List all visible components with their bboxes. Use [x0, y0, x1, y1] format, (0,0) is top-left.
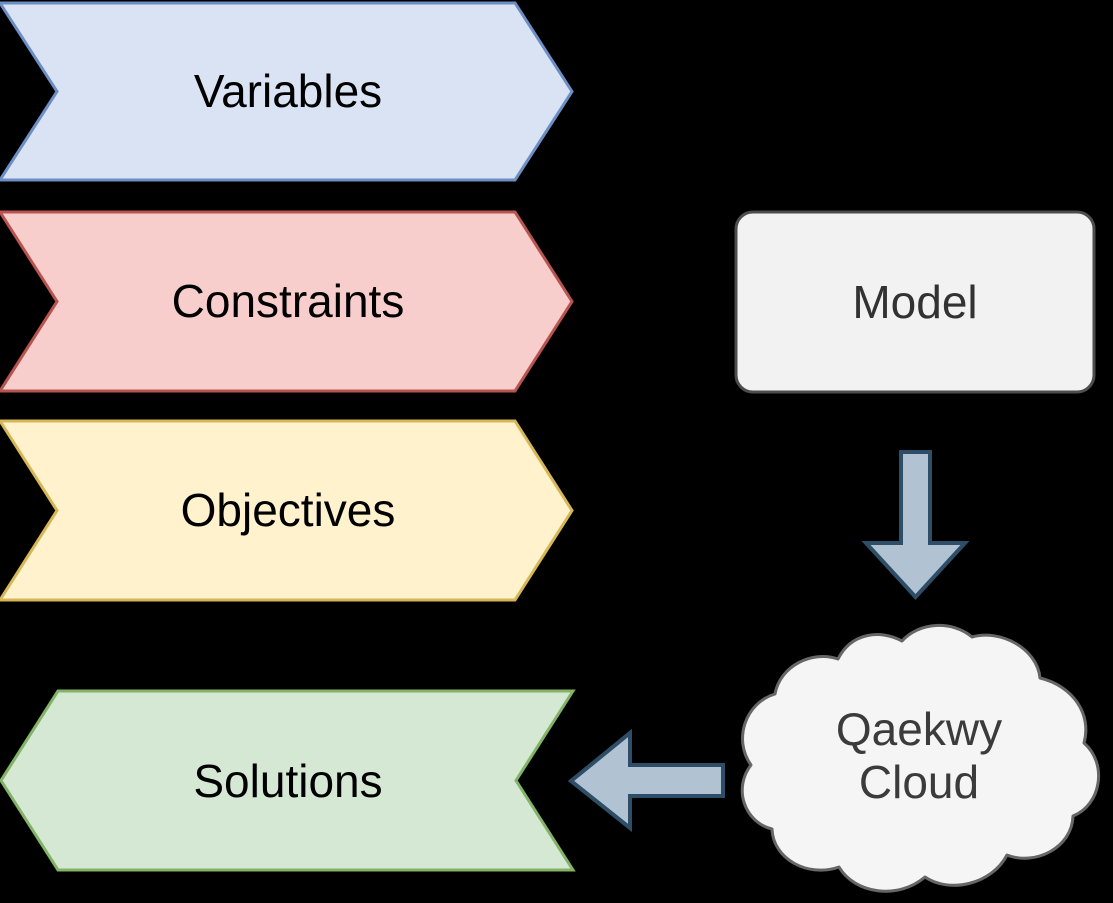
solutions-label: Solutions: [193, 755, 382, 807]
node-cloud[interactable]: Qaekwy Cloud: [742, 625, 1098, 891]
diagram-canvas: Variables Constraints Objectives Solutio…: [0, 0, 1113, 903]
objectives-label: Objectives: [181, 484, 396, 536]
node-objectives[interactable]: Objectives: [0, 421, 572, 600]
node-solutions[interactable]: Solutions: [1, 691, 573, 870]
arrow-down-icon: [866, 452, 965, 597]
connector-cloud-to-solutions: [571, 733, 723, 828]
arrow-left-icon: [571, 733, 723, 828]
cloud-label-line-1: Qaekwy: [836, 703, 1002, 755]
node-constraints[interactable]: Constraints: [0, 212, 572, 391]
diagram-svg: Variables Constraints Objectives Solutio…: [0, 0, 1113, 903]
variables-label: Variables: [194, 65, 382, 117]
constraints-label: Constraints: [172, 275, 405, 327]
connector-model-to-cloud: [866, 452, 965, 597]
model-label: Model: [852, 276, 977, 328]
cloud-label-line-2: Cloud: [859, 756, 979, 808]
node-model[interactable]: Model: [736, 212, 1094, 392]
node-variables[interactable]: Variables: [0, 3, 572, 180]
